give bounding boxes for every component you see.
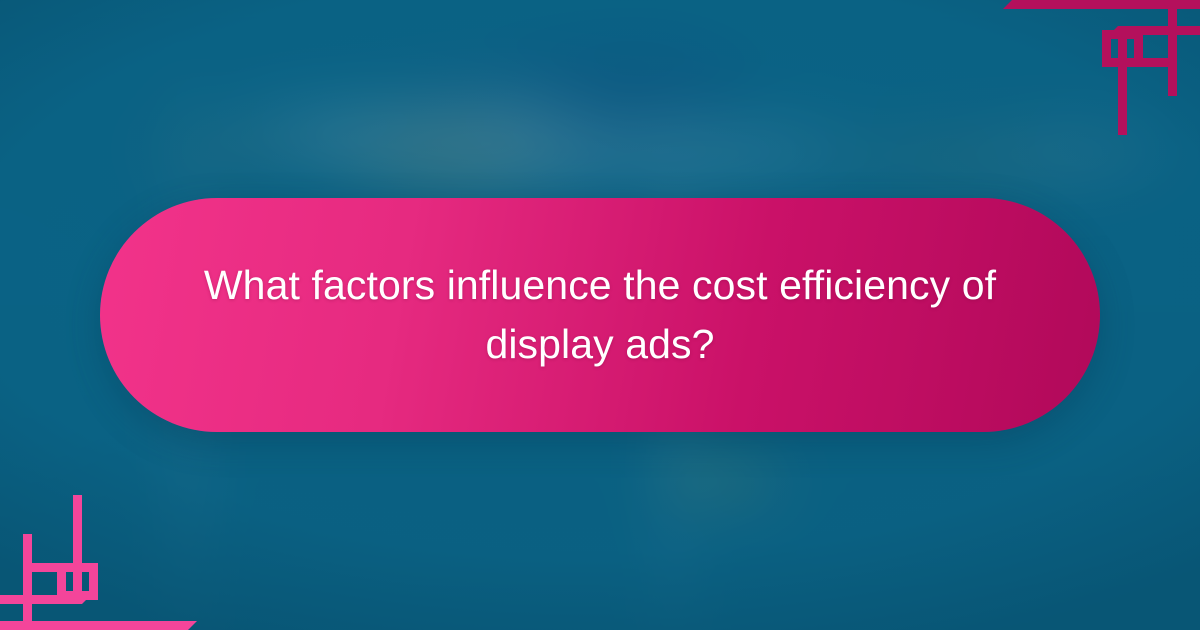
question-card: What factors influence the cost efficien… bbox=[100, 198, 1100, 432]
question-text: What factors influence the cost efficien… bbox=[200, 256, 1000, 375]
question-card-banner: What factors influence the cost efficien… bbox=[0, 0, 1200, 630]
